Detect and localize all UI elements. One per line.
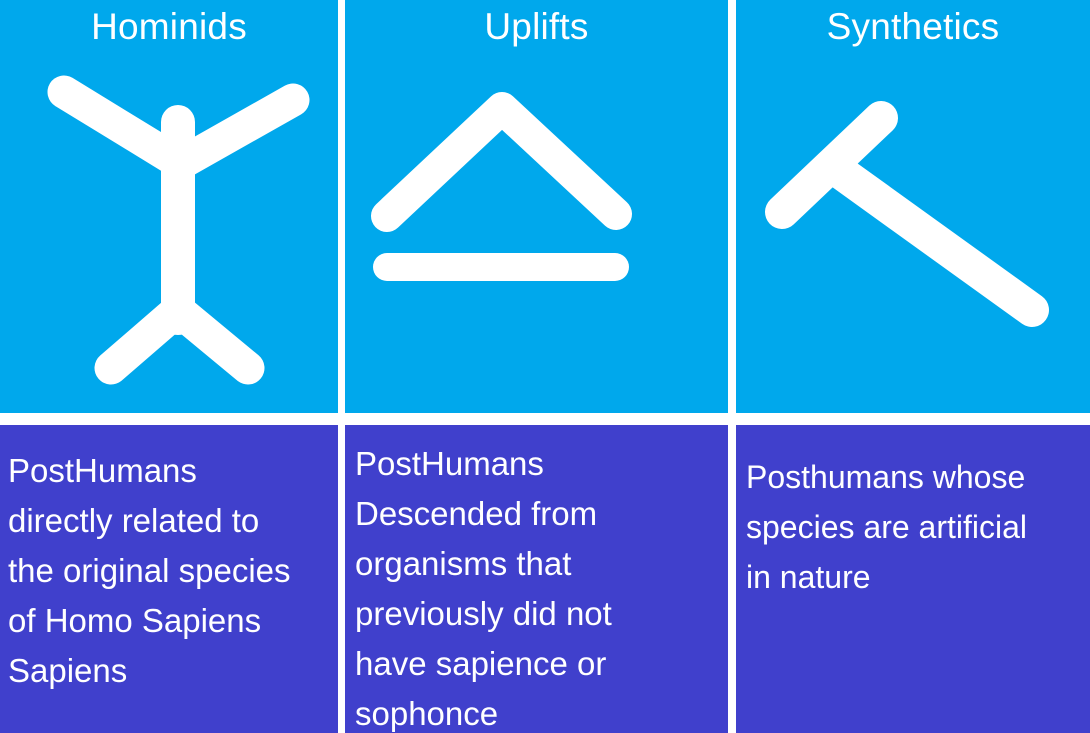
icon-panel-hominids: Hominids — [0, 0, 338, 413]
chevron-up-over-bar-icon — [345, 0, 728, 413]
rotated-tee-hammer-icon — [736, 0, 1090, 413]
infographic-board: Hominids PostHumans directly related to … — [0, 0, 1090, 733]
icon-panel-uplifts: Uplifts — [345, 0, 728, 413]
column-hominids: Hominids PostHumans directly related to … — [0, 0, 338, 733]
stick-figure-person-icon — [0, 0, 338, 413]
description-text-hominids: PostHumans directly related to the origi… — [0, 425, 338, 696]
icon-panel-synthetics: Synthetics — [736, 0, 1090, 413]
column-title-hominids: Hominids — [0, 6, 338, 49]
description-text-uplifts: PostHumans Descended from organisms that… — [345, 425, 728, 733]
column-uplifts: Uplifts PostHumans Descended from organi… — [345, 0, 728, 733]
description-panel-uplifts: PostHumans Descended from organisms that… — [345, 425, 728, 733]
description-panel-synthetics: Posthumans whose species are artificial … — [736, 425, 1090, 733]
column-synthetics: Synthetics Posthumans whose species are … — [736, 0, 1090, 733]
column-title-synthetics: Synthetics — [736, 6, 1090, 49]
column-title-uplifts: Uplifts — [345, 6, 728, 49]
description-panel-hominids: PostHumans directly related to the origi… — [0, 425, 338, 733]
description-text-synthetics: Posthumans whose species are artificial … — [736, 425, 1090, 602]
